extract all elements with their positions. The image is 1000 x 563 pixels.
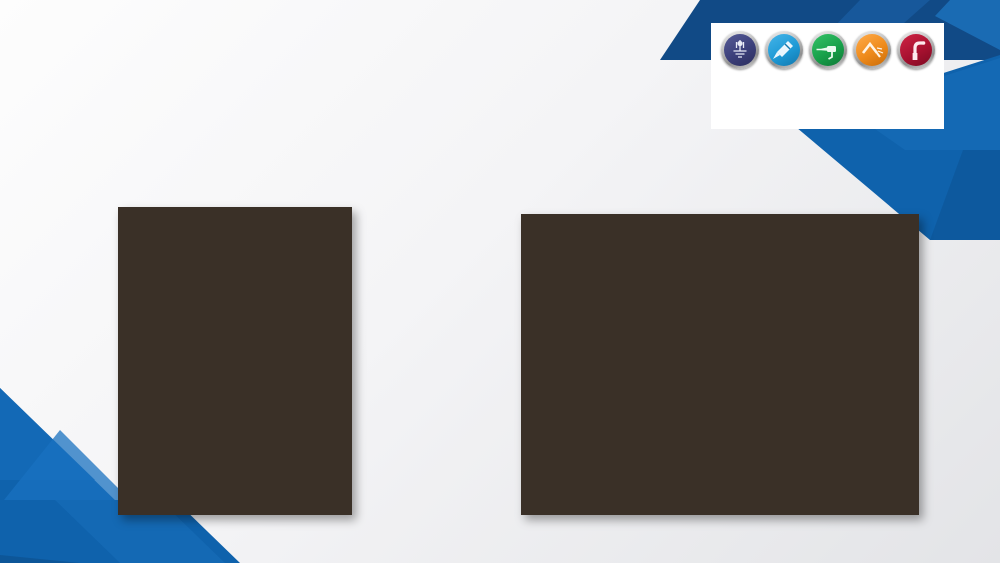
photo-canvas-right — [521, 214, 919, 515]
process-plasma — [720, 31, 760, 70]
plasma-torch-icon — [721, 31, 759, 69]
mig-gun-icon — [809, 31, 847, 69]
presentation-slide — [0, 0, 1000, 563]
process-autogena — [896, 31, 936, 70]
tig-torch-icon — [765, 31, 803, 69]
process-mag-mig — [808, 31, 848, 70]
photo-weld-detail-closeup — [521, 214, 919, 515]
photo-cylinder-liner-full — [118, 207, 352, 515]
stick-electrode-icon — [853, 31, 891, 69]
process-tig — [764, 31, 804, 70]
oxy-torch-icon — [897, 31, 935, 69]
welding-process-icons — [720, 31, 936, 70]
photo-canvas-left — [118, 207, 352, 515]
process-electrodo — [852, 31, 892, 70]
company-logo-card — [711, 23, 944, 129]
